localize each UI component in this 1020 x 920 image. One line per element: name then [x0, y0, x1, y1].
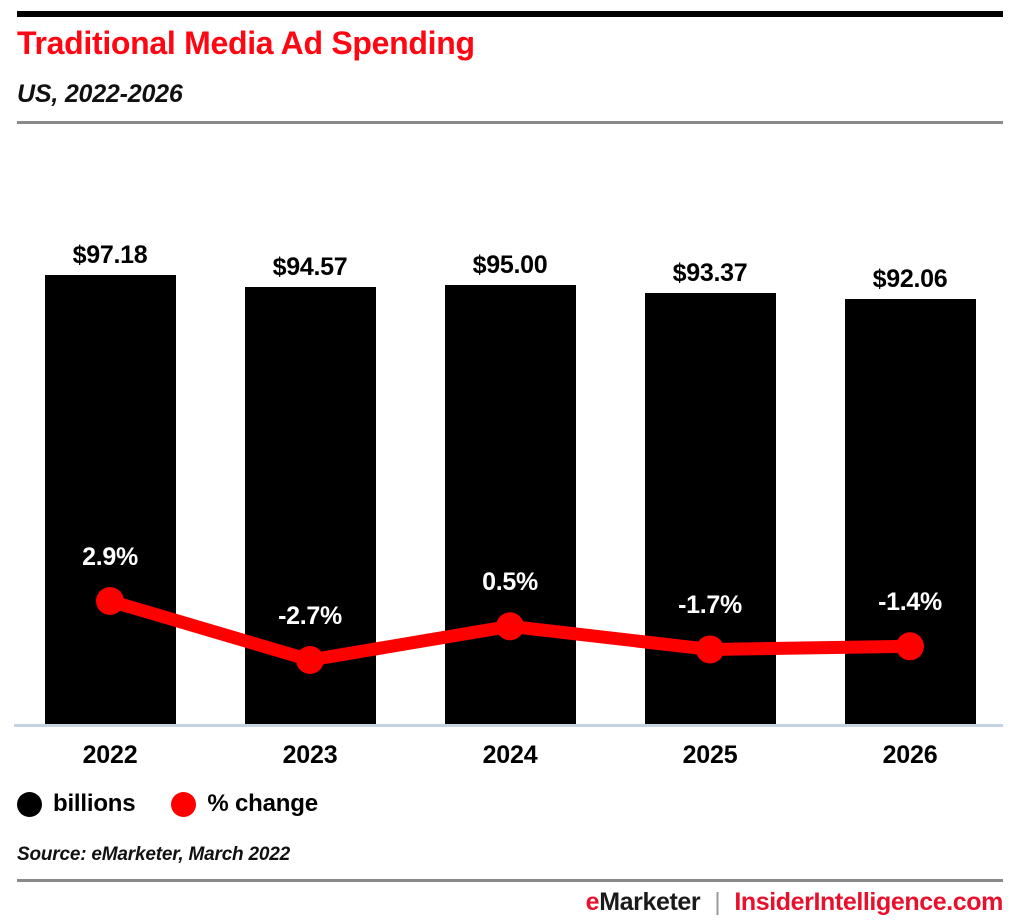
chart-legend: billions% change [17, 790, 318, 818]
brand-emarketer: eMarketer [586, 888, 701, 917]
percent-change-label: 0.5% [410, 568, 610, 597]
bar-value-label: $95.00 [410, 251, 610, 280]
bar-value-label: $93.37 [610, 259, 810, 288]
x-axis-tick-label: 2025 [610, 741, 810, 770]
legend-item: % change [171, 790, 317, 818]
bar-value-label: $92.06 [810, 265, 1010, 294]
percent-change-label: -2.7% [210, 602, 410, 631]
bar [245, 287, 376, 725]
percent-change-label: 2.9% [10, 543, 210, 572]
x-axis-tick-label: 2024 [410, 741, 610, 770]
circle-icon [171, 792, 196, 817]
brand-footer: eMarketer | InsiderIntelligence.com [586, 888, 1003, 917]
bar [645, 293, 776, 725]
brand-emarketer-marketer: Marketer [599, 888, 700, 916]
x-axis-tick-label: 2026 [810, 741, 1010, 770]
percent-change-label: -1.7% [610, 591, 810, 620]
bar [445, 285, 576, 725]
percent-change-label: -1.4% [810, 588, 1010, 617]
brand-separator: | [712, 888, 722, 917]
brand-insider-intelligence: InsiderIntelligence.com [734, 888, 1003, 917]
legend-item: billions [17, 790, 135, 818]
circle-icon [17, 792, 42, 817]
source-note: Source: eMarketer, March 2022 [17, 844, 290, 866]
bar-value-label: $94.57 [210, 253, 410, 282]
legend-item-label: % change [207, 790, 317, 818]
chart-plot-area: $97.18$94.57$95.00$93.37$92.06 2.9%-2.7%… [0, 0, 1020, 920]
bar [45, 275, 176, 725]
x-axis-line [14, 724, 1003, 727]
footer-rule [17, 879, 1003, 882]
brand-emarketer-e: e [586, 888, 600, 916]
legend-item-label: billions [53, 790, 135, 818]
chart-page: Traditional Media Ad Spending US, 2022-2… [0, 0, 1020, 920]
x-axis-tick-label: 2023 [210, 741, 410, 770]
x-axis-tick-label: 2022 [10, 741, 210, 770]
bar-value-label: $97.18 [10, 241, 210, 270]
bar [845, 299, 976, 725]
